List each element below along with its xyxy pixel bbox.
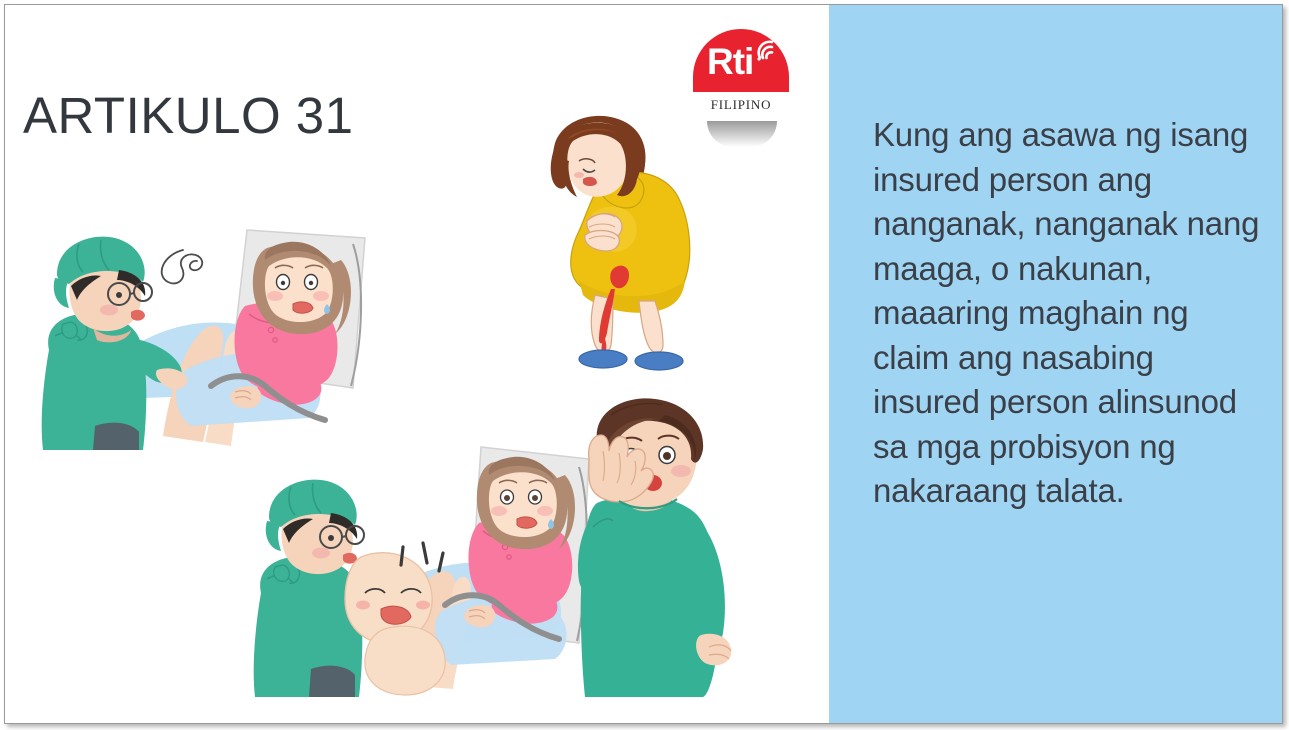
newborn-family-graphic xyxy=(253,397,758,697)
page-title: ARTIKULO 31 xyxy=(23,87,354,145)
hands-on-belly xyxy=(585,214,622,251)
broadcast-signal-icon xyxy=(755,37,781,61)
body-text-panel: Kung ang asawa ng isang insured person a… xyxy=(829,5,1282,723)
body-paragraph: Kung ang asawa ng isang insured person a… xyxy=(873,113,1268,514)
logo-wordmark: Rti xyxy=(707,43,753,80)
slide-frame: ARTIKULO 31 Rti FILIPINO xyxy=(4,4,1283,724)
logo-subtitle: FILIPINO xyxy=(681,97,801,113)
slide-content-area: ARTIKULO 31 Rti FILIPINO xyxy=(5,5,829,723)
illustration-newborn-with-father xyxy=(253,397,758,697)
illustration-pregnant-woman-bleeding xyxy=(533,113,743,375)
right-shoe xyxy=(635,352,683,370)
slide-root: ARTIKULO 31 Rti FILIPINO xyxy=(0,0,1289,730)
stress-squiggle xyxy=(162,250,203,283)
father-figure xyxy=(578,398,731,697)
left-shoe xyxy=(579,350,627,368)
miscarriage-graphic xyxy=(533,113,743,375)
